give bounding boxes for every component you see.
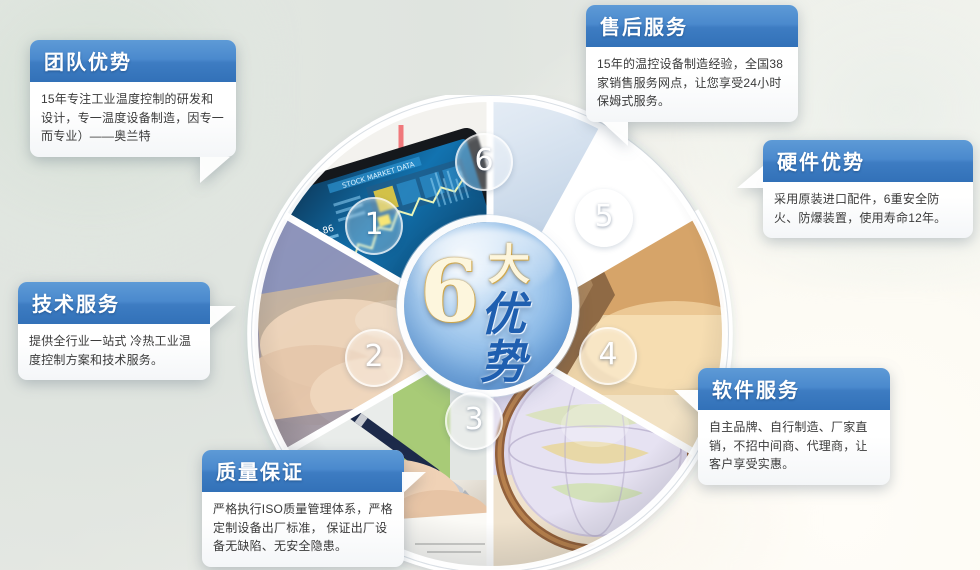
center-badge: 6 大 优势 — [404, 222, 572, 390]
callout-tail-quality — [402, 472, 426, 494]
callout-tail-technical — [210, 306, 236, 328]
callout-quality-guarantee[interactable]: 质量保证 严格执行ISO质量管理体系，严格定制设备出厂标准， 保证出厂设备无缺陷… — [202, 450, 404, 567]
callout-team-advantage[interactable]: 团队优势 15年专注工业温度控制的研发和设计，专一温度设备制造，因专一而专业）—… — [30, 40, 236, 157]
center-script-label: 优势 — [480, 290, 572, 386]
callout-body-after-sales: 15年的温控设备制造经验，全国38家销售服务网点，让您享受24小时保姆式服务。 — [586, 47, 798, 122]
callout-title-team: 团队优势 — [30, 40, 236, 82]
callout-software-service[interactable]: 软件服务 自主品牌、自行制造、厂家直销，不招中间商、代理商，让客户享受实惠。 — [698, 368, 890, 485]
center-number: 6 — [420, 250, 477, 335]
callout-tail-team — [200, 157, 230, 183]
callout-technical-service[interactable]: 技术服务 提供全行业一站式 冷热工业温度控制方案和技术服务。 — [18, 282, 210, 380]
callout-title-after-sales: 售后服务 — [586, 5, 798, 47]
callout-after-sales-service[interactable]: 售后服务 15年的温控设备制造经验，全国38家销售服务网点，让您享受24小时保姆… — [586, 5, 798, 122]
segment-number-6[interactable]: 6 — [455, 133, 513, 191]
callout-body-quality: 严格执行ISO质量管理体系，严格定制设备出厂标准， 保证出厂设备无缺陷、无安全隐… — [202, 492, 404, 567]
center-unit-label: 大 — [488, 244, 530, 286]
segment-number-1[interactable]: 1 — [345, 197, 403, 255]
callout-body-software: 自主品牌、自行制造、厂家直销，不招中间商、代理商，让客户享受实惠。 — [698, 410, 890, 485]
callout-title-technical: 技术服务 — [18, 282, 210, 324]
segment-number-4[interactable]: 4 — [579, 327, 637, 385]
callout-tail-after-sales — [602, 122, 628, 146]
segment-number-2[interactable]: 2 — [345, 329, 403, 387]
callout-title-hardware: 硬件优势 — [763, 140, 973, 182]
segment-number-3[interactable]: 3 — [445, 392, 503, 450]
infographic-stage: STOCK MARKET DATA INTC 440.86 — [0, 0, 980, 570]
callout-hardware-advantage[interactable]: 硬件优势 采用原装进口配件，6重安全防火、防爆装置，使用寿命12年。 — [763, 140, 973, 238]
callout-tail-hardware — [737, 166, 763, 188]
callout-body-technical: 提供全行业一站式 冷热工业温度控制方案和技术服务。 — [18, 324, 210, 380]
callout-body-team: 15年专注工业温度控制的研发和设计，专一温度设备制造，因专一而专业）——奥兰特 — [30, 82, 236, 157]
callout-body-hardware: 采用原装进口配件，6重安全防火、防爆装置，使用寿命12年。 — [763, 182, 973, 238]
callout-title-quality: 质量保证 — [202, 450, 404, 492]
segment-number-5[interactable]: 5 — [575, 189, 633, 247]
callout-title-software: 软件服务 — [698, 368, 890, 410]
callout-tail-software — [674, 390, 698, 412]
